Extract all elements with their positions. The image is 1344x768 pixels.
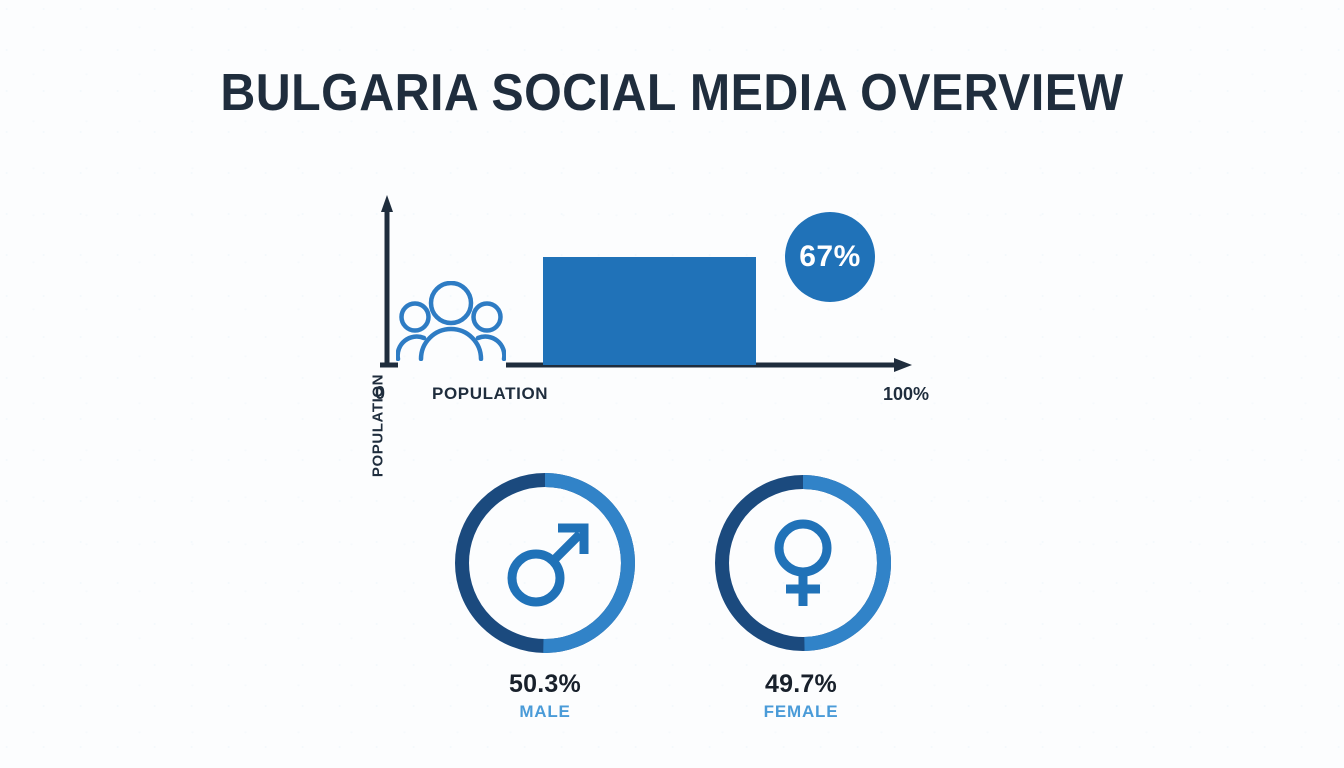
male-label: MALE [452,702,638,722]
page-title: BULGARIA SOCIAL MEDIA OVERVIEW [47,62,1297,124]
percentage-badge: 67% [785,212,875,302]
population-bar [543,257,756,365]
male-donut-group: 50.3% MALE [452,470,652,730]
x-axis-category-label: POPULATION [432,384,548,404]
female-donut-group: 49.7% FEMALE [710,470,910,730]
people-group-icon [396,281,506,361]
x-axis-max-label: 100% [883,384,929,405]
female-percentage-value: 49.7% [710,670,892,699]
female-gender-icon [766,518,840,608]
female-label: FEMALE [710,702,892,722]
infographic-canvas: BULGARIA SOCIAL MEDIA OVERVIEW POPULATIO… [0,0,1344,768]
population-bar-chart: POPULATION 67% 0 POPULATIO [320,185,960,420]
male-percentage-value: 50.3% [452,670,638,699]
male-gender-icon [500,516,592,610]
gender-split-section: 50.3% MALE 49.7% FEMALE [440,470,920,730]
x-axis-zero-label: 0 [375,383,385,404]
